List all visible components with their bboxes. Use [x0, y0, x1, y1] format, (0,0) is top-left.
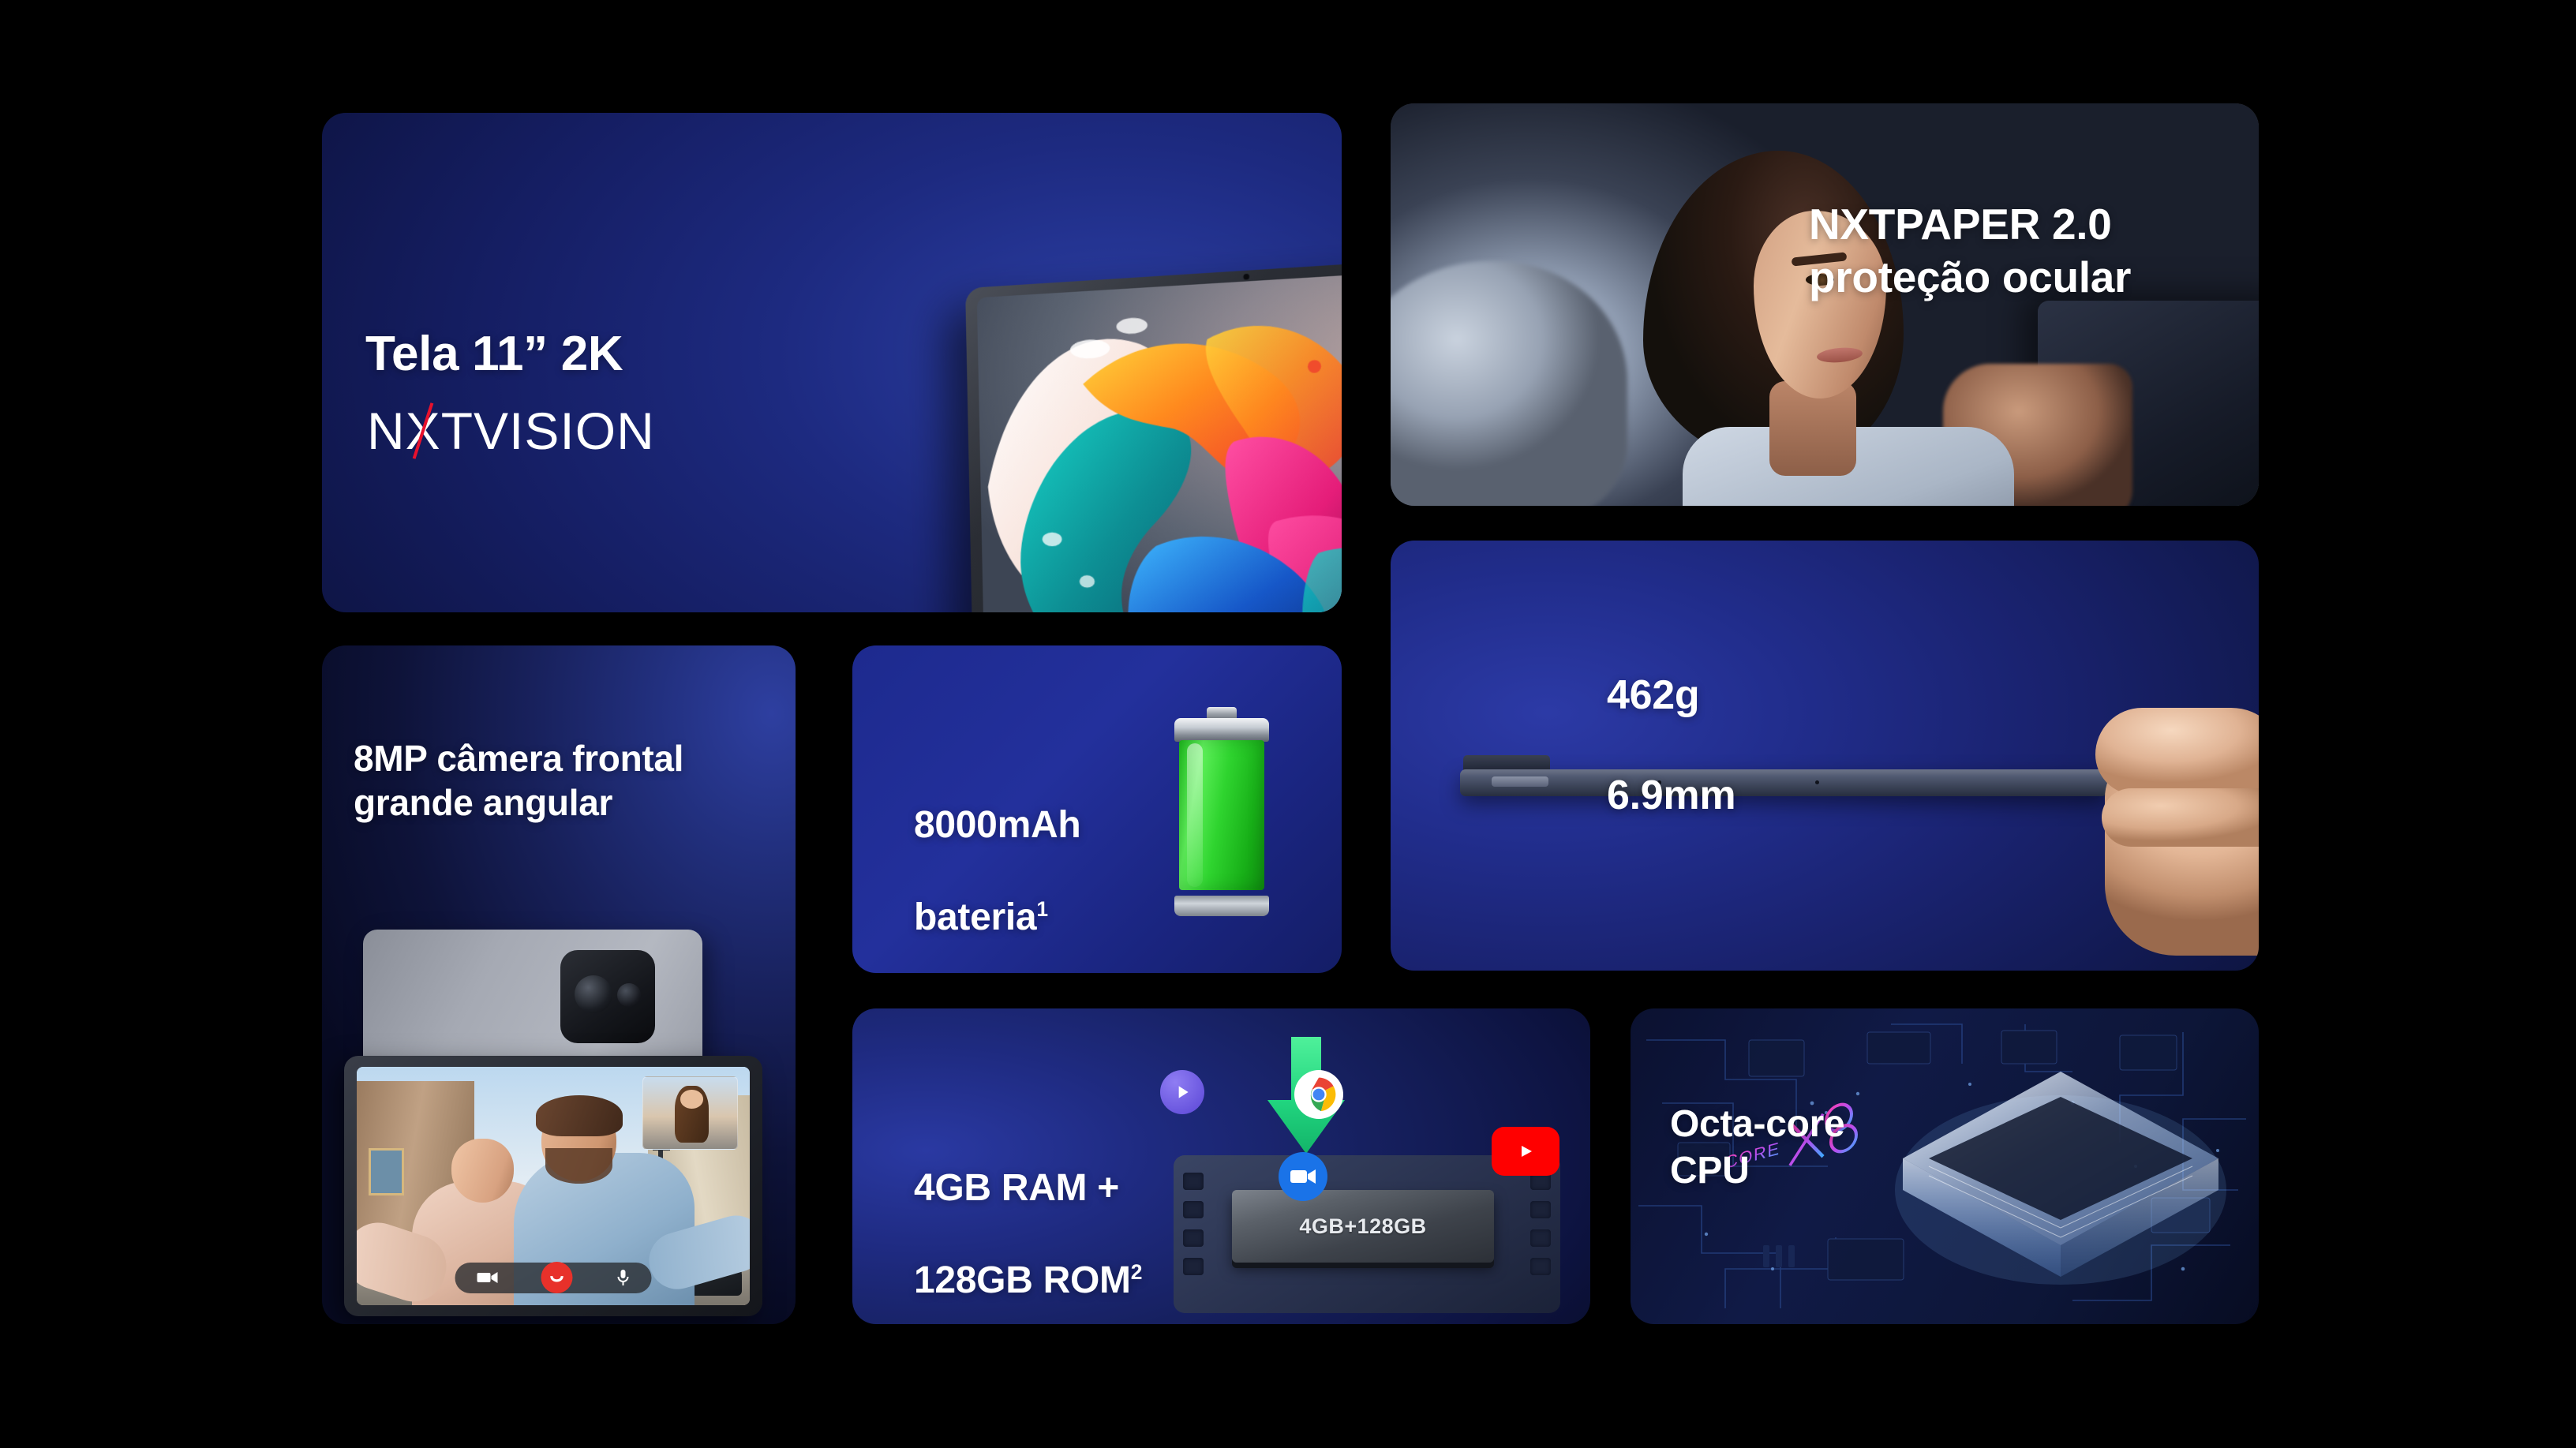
nxtpaper-photo: [1391, 103, 2259, 506]
rear-camera-module-icon: [560, 950, 655, 1043]
memory-chip-label: 4GB+128GB: [1299, 1214, 1426, 1239]
hang-up-button[interactable]: [541, 1262, 573, 1293]
video-call-icon: [1279, 1152, 1327, 1201]
cpu-glow-heatsink: [1891, 1040, 2230, 1300]
play-triangle-icon: [1172, 1082, 1193, 1102]
wallpaper-liquid-splash: [977, 263, 1342, 612]
thickness-value: 6.9mm: [1607, 773, 1735, 818]
nxtvision-logo: N X TVISION: [367, 405, 655, 457]
camera-headline: 8MP câmera frontal grande angular: [354, 736, 683, 825]
memory-footnote-marker: 2: [1131, 1260, 1142, 1284]
ram-value: 4GB RAM +: [914, 1167, 1119, 1209]
battery-cap-bottom: [1174, 896, 1269, 916]
battery-capacity: 8000mAh: [914, 804, 1080, 846]
video-camera-icon: [1290, 1168, 1316, 1185]
nxtpaper-headline: NXTPAPER 2.0 proteção ocular: [1809, 198, 2131, 304]
woman-portrait: [1588, 135, 2030, 506]
hand-holding-tablet: [2057, 695, 2259, 971]
chrome-icon: [1294, 1070, 1343, 1119]
video-call-screen: [357, 1067, 750, 1305]
memory-headline: 4GB RAM + 128GB ROM2: [914, 1119, 1142, 1304]
man-hair: [536, 1095, 623, 1136]
video-call-control-bar[interactable]: [455, 1263, 652, 1293]
front-camera-icon: [1243, 274, 1249, 280]
window: [369, 1148, 404, 1195]
memory-chip: 4GB+128GB: [1232, 1190, 1494, 1263]
panel-battery: 8000mAh bateria1: [852, 645, 1342, 973]
phone-down-icon[interactable]: [549, 1269, 566, 1286]
tablet-front-display: [965, 250, 1342, 612]
pip-person-face: [680, 1090, 703, 1109]
picture-in-picture-self-view: [642, 1076, 739, 1150]
nxtvision-logo-x-wrap: X: [406, 405, 441, 457]
panel-memory: 4GB RAM + 128GB ROM2: [852, 1008, 1590, 1324]
panel-weight-thickness: 462g 6.9mm: [1391, 541, 2259, 971]
display-headline: Tela 11” 2K: [365, 324, 623, 384]
tablet-side-profile: [1460, 769, 2107, 796]
power-button: [1492, 776, 1548, 787]
weight-value: 462g: [1607, 672, 1699, 718]
panel-cpu: CORE Octa-core CPU: [1631, 1008, 2259, 1324]
panel-display: Tela 11” 2K N X TVISION: [322, 113, 1342, 612]
weight-headline: 462g 6.9mm: [1607, 621, 1735, 821]
woman-head: [451, 1139, 515, 1203]
promo-feature-grid: Tela 11” 2K N X TVISION: [0, 0, 2576, 1448]
camera-lens-primary-icon: [575, 975, 612, 1013]
camera-toggle-icon[interactable]: [477, 1270, 497, 1285]
microphone-hole-icon: [1815, 780, 1819, 784]
youtube-icon: [1492, 1127, 1559, 1176]
battery-cap-top: [1174, 718, 1269, 742]
youtube-play-icon: [1512, 1142, 1539, 1161]
battery-icon: [1174, 707, 1269, 916]
battery-label: bateria: [914, 896, 1036, 938]
nxtvision-logo-n: N: [367, 405, 406, 457]
battery-footnote-marker: 1: [1036, 897, 1047, 921]
panel-front-camera: 8MP câmera frontal grande angular: [322, 645, 796, 1324]
google-play-movies-icon: [1160, 1070, 1204, 1114]
battery-gloss-highlight: [1187, 743, 1203, 887]
man-beard: [545, 1148, 612, 1184]
fingers: [2102, 788, 2259, 847]
nxtvision-logo-rest: TVISION: [441, 405, 655, 457]
memory-board: 4GB+128GB: [1174, 1155, 1560, 1313]
tablet-front-video-call: [344, 1056, 762, 1316]
microphone-icon[interactable]: [617, 1269, 630, 1286]
camera-lens-secondary-icon: [617, 983, 641, 1007]
battery-headline: 8000mAh bateria1: [914, 756, 1080, 941]
cpu-headline: Octa-core CPU: [1670, 1102, 1844, 1194]
chrome-logo-icon: [1297, 1073, 1340, 1116]
thumb: [2095, 708, 2259, 795]
tablet-screen: [977, 263, 1342, 612]
panel-nxtpaper: NXTPAPER 2.0 proteção ocular: [1391, 103, 2259, 506]
rom-value: 128GB ROM: [914, 1259, 1131, 1301]
